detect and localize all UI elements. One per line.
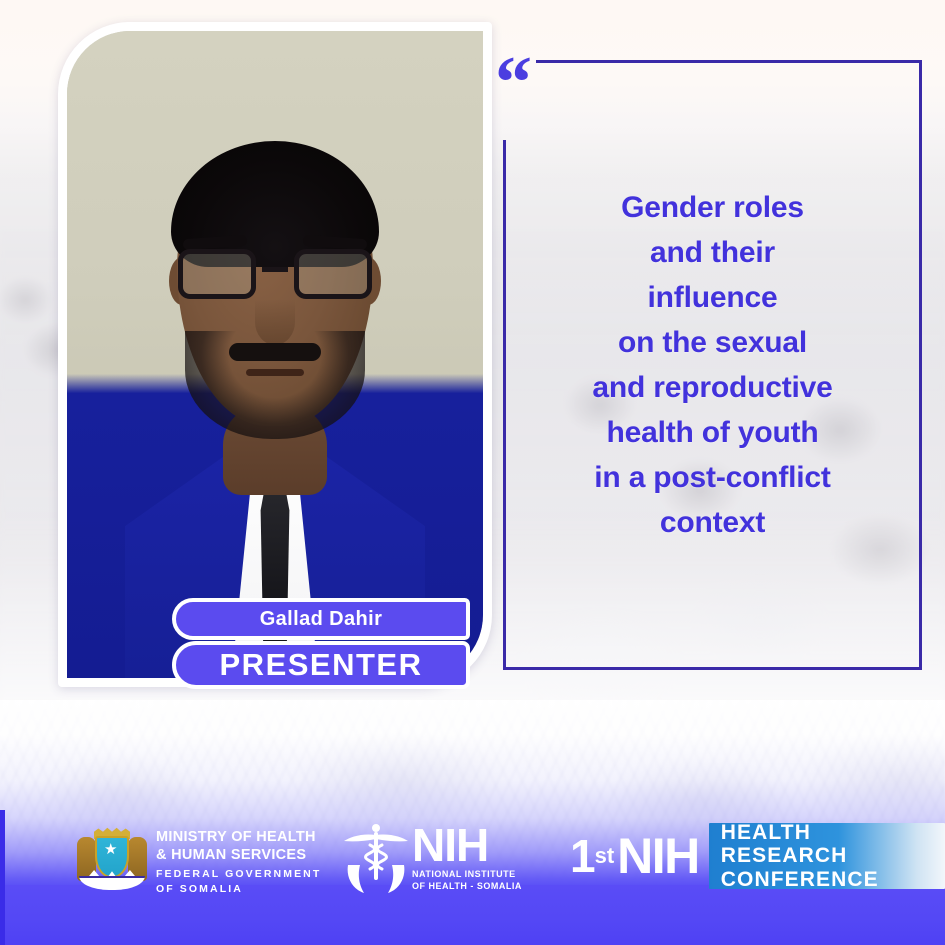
ministry-line-3: FEDERAL GOVERNMENT — [156, 867, 321, 882]
lens-right — [294, 249, 372, 299]
footer-logos: MINISTRY OF HEALTH & HUMAN SERVICES FEDE… — [0, 819, 945, 905]
conference-nih-acronym: NIH — [617, 823, 699, 889]
presenter-name: Gallad Dahir — [260, 608, 383, 631]
quote-open-icon: “ — [495, 52, 532, 115]
nose — [255, 299, 295, 345]
mouth — [246, 369, 304, 376]
nih-subtitle-1: NATIONAL INSTITUTE — [412, 869, 522, 881]
nih-acronym: NIH — [412, 823, 522, 868]
glasses-bridge — [262, 267, 288, 272]
nih-wordmark: NIH NATIONAL INSTITUTE OF HEALTH - SOMAL… — [412, 823, 522, 892]
ministry-line-2: & HUMAN SERVICES — [156, 847, 321, 865]
title-line: Gender roles — [520, 185, 905, 230]
conference-title-line-1: HEALTH RESEARCH — [721, 821, 929, 868]
ministry-wordmark: MINISTRY OF HEALTH & HUMAN SERVICES FEDE… — [156, 829, 321, 897]
ministry-line-1: MINISTRY OF HEALTH — [156, 829, 321, 847]
presenter-name-badge: Gallad Dahir — [172, 598, 470, 640]
conference-title-line-2: CONFERENCE — [721, 868, 929, 892]
quote-frame-top — [536, 60, 922, 63]
conference-ordinal: 1st — [570, 823, 614, 889]
presenter-role: PRESENTER — [220, 647, 423, 683]
presenter-photo-card — [58, 22, 492, 687]
nih-subtitle-2: OF HEALTH - SOMALIA — [412, 881, 522, 893]
conference-lockup: 1st NIH HEALTH RESEARCH CONFERENCE — [570, 823, 945, 889]
title-line: in a post-conflict — [520, 455, 905, 500]
quote-frame-right — [919, 60, 922, 670]
caduceus-in-hands-icon — [340, 821, 412, 895]
event-poster: Gallad Dahir PRESENTER “ Gender roles an… — [0, 0, 945, 945]
presentation-title: Gender roles and their influence on the … — [520, 185, 905, 545]
presenter-role-badge: PRESENTER — [172, 641, 470, 689]
lens-left — [178, 249, 256, 299]
title-line: influence — [520, 275, 905, 320]
title-line: and reproductive — [520, 365, 905, 410]
ribbon-icon — [79, 876, 145, 890]
title-line: context — [520, 500, 905, 545]
title-line: and their — [520, 230, 905, 275]
title-line: health of youth — [520, 410, 905, 455]
somalia-coat-of-arms-icon — [74, 823, 150, 893]
ministry-line-4: OF SOMALIA — [156, 882, 321, 897]
quote-frame-bottom — [503, 667, 922, 670]
conference-ordinal-number: 1 — [570, 833, 595, 879]
quote-frame-left — [503, 140, 506, 670]
eyeglasses-icon — [176, 249, 374, 301]
presenter-portrait — [67, 31, 483, 678]
conference-title-box: HEALTH RESEARCH CONFERENCE — [709, 823, 945, 889]
title-line: on the sexual — [520, 320, 905, 365]
conference-ordinal-suffix: st — [595, 845, 615, 867]
moustache — [229, 343, 321, 361]
